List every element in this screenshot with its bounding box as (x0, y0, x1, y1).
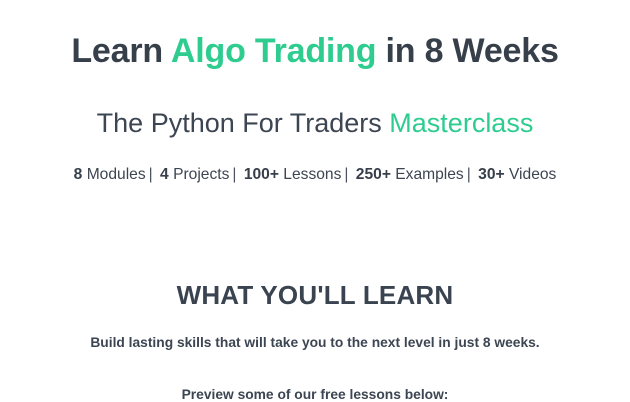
section-heading-what-youll-learn: WHAT YOU'LL LEARN (0, 280, 630, 311)
stat-separator: | (146, 166, 156, 183)
stat-label-videos: Videos (509, 166, 556, 183)
stat-label-modules: Modules (87, 166, 146, 183)
stat-label-projects: Projects (173, 166, 229, 183)
stat-value-projects: 4 (160, 166, 169, 183)
stat-label-examples: Examples (395, 166, 463, 183)
page-title: Learn Algo Trading in 8 Weeks (0, 31, 630, 71)
page-subtitle-accent: Masterclass (389, 108, 533, 138)
stat-separator: | (229, 166, 239, 183)
page-title-accent: Algo Trading (171, 32, 376, 70)
section-tagline: Build lasting skills that will take you … (0, 335, 630, 350)
page-subtitle: The Python For Traders Masterclass (0, 107, 630, 139)
landing-page: Learn Algo Trading in 8 Weeks The Python… (0, 0, 630, 400)
stat-value-lessons: 100+ (244, 166, 279, 183)
course-stats: 8 Modules| 4 Projects| 100+ Lessons| 250… (0, 166, 630, 184)
stat-separator: | (341, 166, 351, 183)
stat-label-lessons: Lessons (283, 166, 341, 183)
stat-separator: | (464, 166, 474, 183)
stat-value-modules: 8 (74, 166, 83, 183)
page-subtitle-prefix: The Python For Traders (97, 108, 390, 138)
stat-value-examples: 250+ (356, 166, 391, 183)
page-title-prefix: Learn (71, 32, 171, 70)
page-title-suffix: in 8 Weeks (376, 32, 558, 70)
stat-value-videos: 30+ (478, 166, 504, 183)
